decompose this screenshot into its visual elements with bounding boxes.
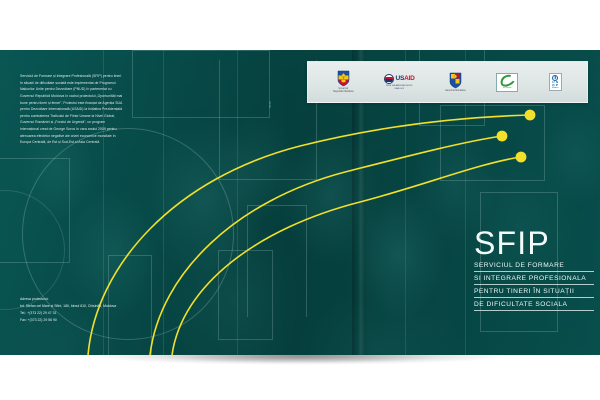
partner-logo-bar: Guvernul Republicii Moldova USAID FROM T… bbox=[307, 61, 588, 103]
logo-undp: U N D P Moldova bbox=[549, 62, 562, 102]
page-title: SFIP bbox=[474, 227, 594, 259]
cover-title-block: SFIP SERVICIUL DE FORMARE SI INTEGRARE P… bbox=[474, 227, 594, 311]
romania-coat-of-arms-icon bbox=[449, 72, 462, 89]
logo-moldova-government: Guvernul Republicii Moldova bbox=[333, 62, 353, 102]
usaid-wordmark: USAID bbox=[396, 76, 415, 83]
undp-lockup: U N D P Moldova bbox=[549, 73, 562, 91]
logo-usaid: USAID FROM THE AMERICAN PEOPLE USAID.GOV bbox=[384, 62, 414, 102]
subtitle-line-2: SI INTEGRARE PROFESIONALA bbox=[474, 272, 594, 285]
moldova-caption: Guvernul Republicii Moldova bbox=[333, 88, 353, 94]
subtitle-line-4: DE DIFICULTATE SOCIALA bbox=[474, 298, 594, 311]
romania-caption: Guvernul României bbox=[445, 90, 466, 93]
usaid-seal-icon bbox=[384, 74, 394, 84]
accent-dot-2 bbox=[497, 131, 508, 142]
moldova-coat-of-arms-icon bbox=[337, 70, 350, 87]
logo-emergency-fund: de Urgență bbox=[496, 62, 518, 102]
brochure-drop-shadow bbox=[0, 355, 600, 377]
emergency-fund-swoosh-icon: de Urgență bbox=[496, 73, 518, 92]
logo-romania-government: Guvernul României bbox=[445, 62, 466, 102]
accent-dot-1 bbox=[525, 110, 536, 121]
undp-globe-icon bbox=[552, 75, 558, 81]
brochure-spread: Serviciul de Formare și Integrare Profes… bbox=[0, 50, 600, 355]
emergency-fund-label: de Urgență bbox=[503, 87, 511, 89]
usaid-lockup: USAID bbox=[384, 74, 414, 84]
accent-dot-3 bbox=[516, 152, 527, 163]
undp-caption: Moldova bbox=[552, 87, 558, 89]
usaid-tagline: FROM THE AMERICAN PEOPLE USAID.GOV bbox=[386, 85, 413, 89]
subtitle-line-3: PENTRU TINERI ÎN SITUAȚII bbox=[474, 285, 594, 298]
